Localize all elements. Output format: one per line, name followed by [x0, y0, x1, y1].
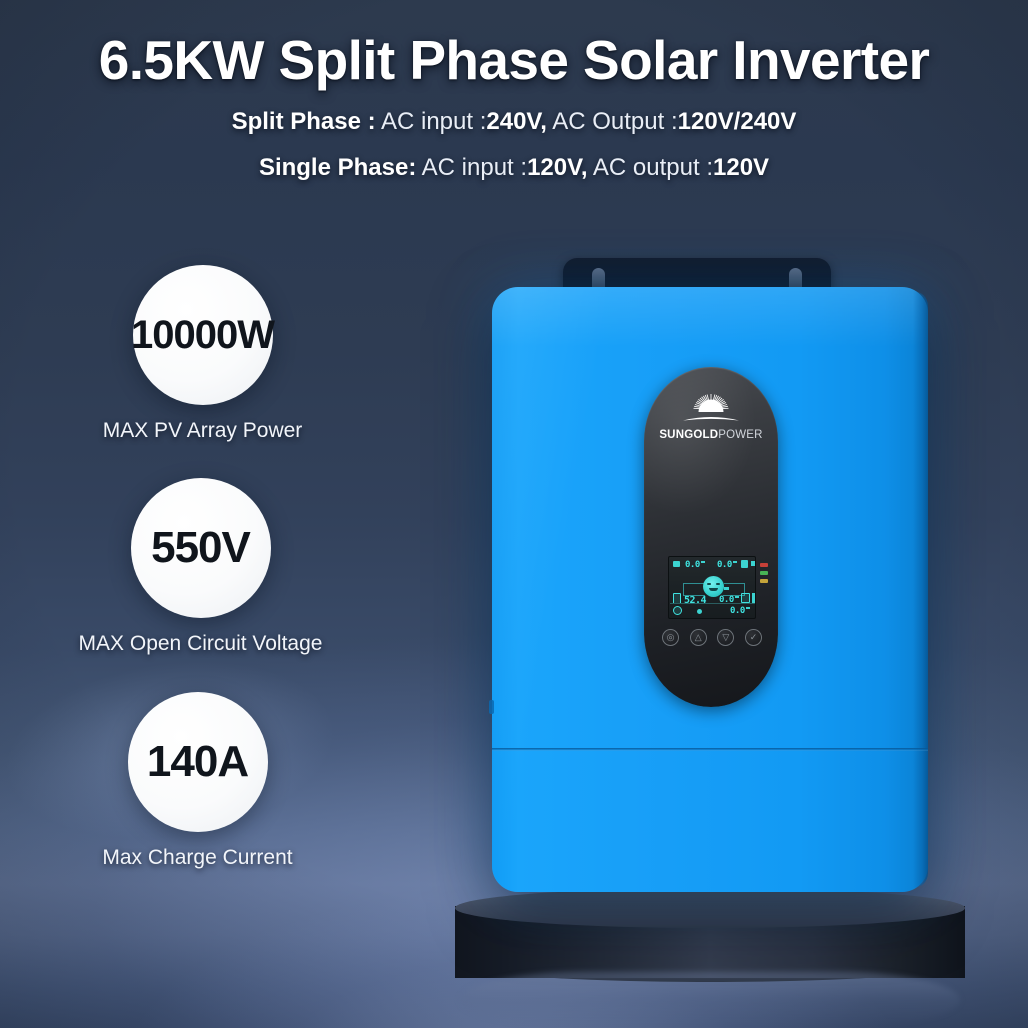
- feature-badge-pv-power: 10000W MAX PV Array Power: [30, 265, 375, 442]
- feature-circle: 550V: [131, 478, 271, 618]
- feature-value: 140A: [147, 740, 248, 784]
- home-load-icon: [741, 593, 750, 603]
- feature-caption: MAX Open Circuit Voltage: [28, 632, 373, 655]
- spec-line-single-phase: Single Phase: AC input :120V, AC output …: [0, 156, 1028, 180]
- grid-icon: [741, 560, 748, 568]
- frequency-icon: [697, 609, 702, 614]
- lcd-pv-power: 0.0: [685, 561, 700, 570]
- pv-panel-icon: [673, 561, 680, 567]
- orb-eye-left: [707, 583, 711, 585]
- feature-circle: 10000W: [133, 265, 273, 405]
- feature-badge-charge-current: 140A Max Charge Current: [25, 692, 370, 869]
- load-unit-label: [735, 596, 739, 598]
- brand-name-bold: SUNGOLD: [659, 429, 718, 441]
- split-phase-output-value: 120V/240V: [678, 108, 797, 135]
- led-indicator-strip: [760, 563, 768, 587]
- chassis-side-face: [913, 291, 928, 888]
- single-phase-input-label: AC input :: [422, 154, 527, 181]
- ac-unit-label: [733, 561, 737, 563]
- led-status: [760, 579, 768, 583]
- up-button[interactable]: △: [690, 629, 707, 646]
- signal-icon: [751, 561, 755, 566]
- brand-name: SUNGOLDPOWER: [644, 430, 778, 442]
- bottom-unit-label: [746, 607, 750, 609]
- enter-button[interactable]: ✓: [745, 629, 762, 646]
- page-title: 6.5KW Split Phase Solar Inverter: [0, 33, 1028, 88]
- settings-indicator-icon: [673, 606, 682, 615]
- brand-name-thin: POWER: [718, 429, 762, 441]
- feature-caption: Max Charge Current: [25, 846, 370, 869]
- product-banner: SUNGOLDPOWER 0.0 0.0: [0, 0, 1028, 1028]
- led-charge: [760, 571, 768, 575]
- feature-value: 550V: [151, 526, 250, 570]
- header: 6.5KW Split Phase Solar Inverter Split P…: [0, 0, 1028, 180]
- inverter-status-orb: [703, 576, 724, 597]
- split-phase-input-value: 240V,: [486, 108, 547, 135]
- orb-eye-right: [716, 583, 720, 585]
- lcd-ac-power: 0.0: [717, 561, 732, 570]
- feature-badge-open-circuit-voltage: 550V MAX Open Circuit Voltage: [28, 478, 373, 655]
- single-phase-input-value: 120V,: [527, 154, 588, 181]
- control-button-row: ◎ △ ▽ ✓: [662, 629, 762, 646]
- escape-button[interactable]: ◎: [662, 629, 679, 646]
- feature-circle: 140A: [128, 692, 268, 832]
- wire-top-left: [683, 583, 704, 584]
- orb-mouth: [709, 588, 718, 591]
- pv-unit-label: [701, 561, 705, 563]
- led-fault: [760, 563, 768, 567]
- lcd-display[interactable]: 0.0 0.0: [668, 556, 756, 619]
- single-phase-label: Single Phase:: [259, 154, 416, 181]
- sunburst-icon: [670, 393, 752, 427]
- wire-top-right: [724, 583, 745, 584]
- lcd-bottom-value: 0.0: [730, 607, 745, 616]
- mode-indicator: [724, 587, 729, 590]
- single-phase-output-label: AC output :: [593, 154, 713, 181]
- lcd-status-bar: 0.0: [670, 603, 756, 617]
- single-phase-output-value: 120V: [713, 154, 769, 181]
- brand-logo: SUNGOLDPOWER: [644, 393, 778, 442]
- spec-line-split-phase: Split Phase : AC input :240V, AC Output …: [0, 110, 1028, 134]
- chassis-side-notch: [489, 700, 494, 714]
- control-panel: SUNGOLDPOWER 0.0 0.0: [644, 367, 778, 707]
- split-phase-label: Split Phase :: [232, 108, 376, 135]
- feature-value: 10000W: [131, 315, 274, 355]
- feature-caption: MAX PV Array Power: [30, 419, 375, 442]
- split-phase-input-label: AC input :: [381, 108, 486, 135]
- chassis-seam-line: [492, 748, 928, 751]
- split-phase-output-label: AC Output :: [552, 108, 677, 135]
- down-button[interactable]: ▽: [717, 629, 734, 646]
